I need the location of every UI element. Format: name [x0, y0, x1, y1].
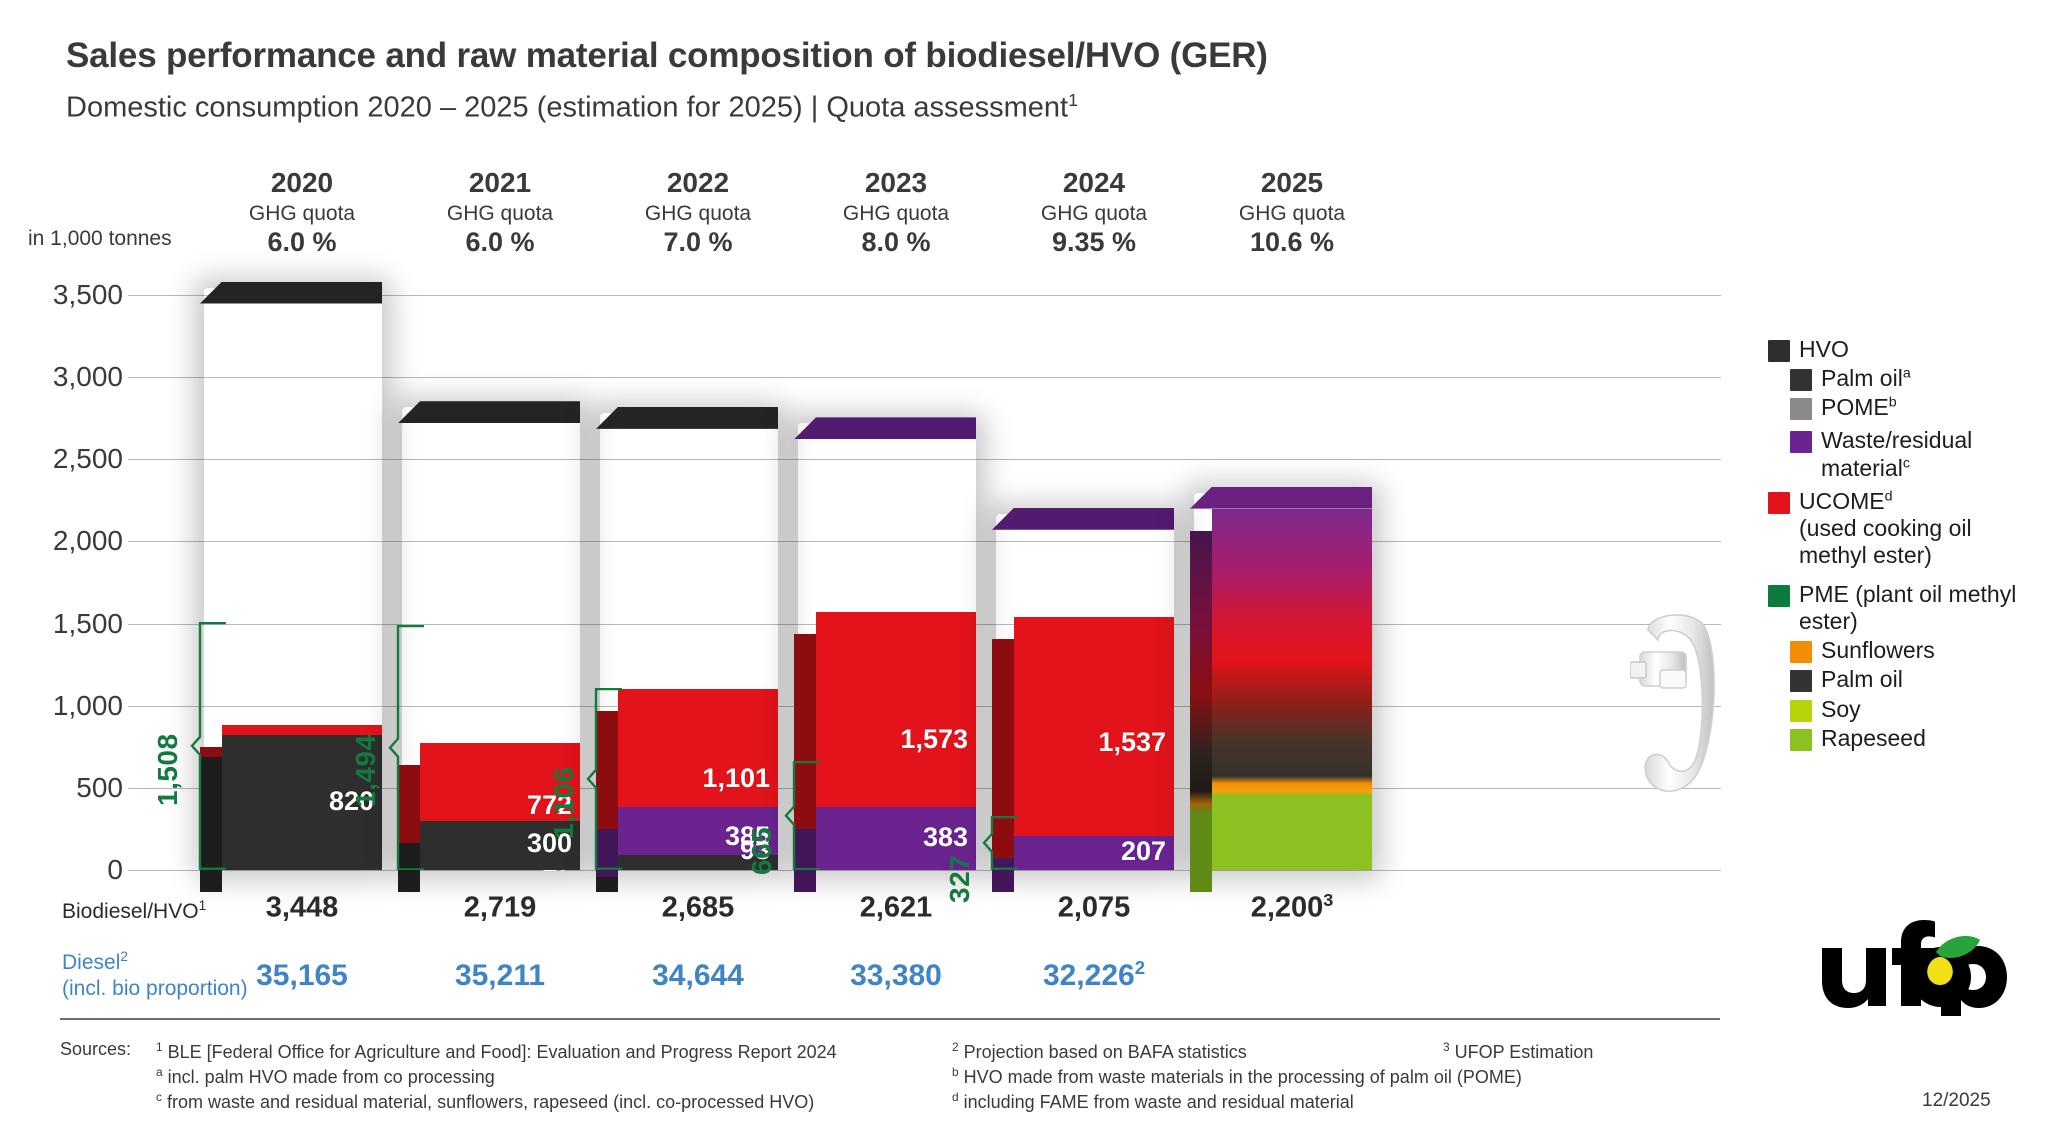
column-year: 2022: [598, 168, 798, 197]
legend-swatch-icon: [1790, 729, 1812, 751]
source-note: 1 BLE [Federal Office for Agriculture an…: [156, 1039, 837, 1066]
pme-brace: [186, 622, 226, 870]
chart-page: Sales performance and raw material compo…: [0, 0, 2048, 1148]
footer-divider: [60, 1018, 1720, 1020]
quota-value: 6.0 %: [400, 228, 600, 258]
biodiesel-total-value: 2,075: [994, 890, 1194, 925]
legend-item-waste-residual-material[interactable]: Waste/residual materialc: [1768, 427, 2033, 481]
bar-2024: 283441,537207: [1014, 530, 1174, 870]
legend-label: PME (plant oil methyl ester): [1799, 581, 2033, 635]
legend-swatch-icon: [1790, 641, 1812, 663]
y-axis-tick-label: 3,000: [53, 361, 123, 393]
source-note: 3 UFOP Estimation: [1443, 1039, 1593, 1066]
quota-value: 10.6 %: [1192, 228, 1392, 258]
source-note: a incl. palm HVO made from co processing: [156, 1064, 495, 1091]
pme-brace: [384, 625, 424, 870]
bar-top-face: [398, 401, 580, 423]
legend-item-ucome[interactable]: UCOMEd(used cooking oil methyl ester): [1768, 488, 2033, 569]
bar-2025-estimate: [1212, 509, 1372, 870]
y-axis-tick-label: 2,000: [53, 525, 123, 557]
column-header-2023: 2023GHG quota8.0 %: [796, 168, 996, 257]
diesel-total-value: 32,2262: [994, 957, 1194, 993]
legend-label: Waste/residual materialc: [1821, 427, 2033, 481]
source-note: b HVO made from waste materials in the p…: [952, 1064, 1522, 1091]
diesel-total-value: 34,644: [598, 957, 798, 993]
column-header-2024: 2024GHG quota9.35 %: [994, 168, 1194, 257]
biodiesel-total-value: 2,621: [796, 890, 996, 925]
diesel-total-value: 33,380: [796, 957, 996, 993]
fuel-nozzle-icon: [1630, 608, 1740, 838]
sources-label: Sources:: [60, 1039, 131, 1060]
ufop-logo: [1818, 916, 2018, 1016]
legend-label: POMEb: [1821, 394, 1897, 421]
legend-item-hvo[interactable]: HVO: [1768, 336, 2033, 363]
y-axis-tick-label: 0: [107, 854, 123, 886]
legend-swatch-icon: [1768, 585, 1790, 607]
quota-label: GHG quota: [598, 201, 798, 227]
biodiesel-total-value: 2,2003: [1192, 890, 1392, 925]
column-header-2025: 2025GHG quota10.6 %: [1192, 168, 1392, 257]
bar-top-face: [200, 282, 382, 304]
legend-swatch-icon: [1768, 492, 1790, 514]
bar-top-face: [596, 407, 778, 429]
biodiesel-total-value: 2,685: [598, 890, 798, 925]
pme-brace: [582, 688, 622, 870]
legend-item-rapeseed[interactable]: Rapeseed: [1768, 725, 2033, 752]
legend-item-soy[interactable]: Soy: [1768, 696, 2033, 723]
diesel-total-value: 35,165: [202, 957, 402, 993]
quota-value: 7.0 %: [598, 228, 798, 258]
legend-item-pme-plant-oil-methyl-ester[interactable]: PME (plant oil methyl ester): [1768, 581, 2033, 635]
legend-swatch-icon: [1790, 398, 1812, 420]
bar-top-face: [992, 508, 1174, 530]
bar-segment-value: 1,573: [900, 726, 968, 753]
pme-brace: [978, 816, 1018, 870]
y-axis-tick-label: 3,500: [53, 279, 123, 311]
legend-swatch-icon: [1790, 431, 1812, 453]
column-year: 2024: [994, 168, 1194, 197]
chart-legend: HVOPalm oilaPOMEbWaste/residual material…: [1768, 336, 2033, 754]
pme-brace: [780, 761, 820, 870]
bar-gradient-face: [1212, 509, 1372, 870]
legend-swatch-icon: [1790, 670, 1812, 692]
quota-value: 9.35 %: [994, 228, 1194, 258]
bar-segment-value: 207: [1121, 838, 1166, 865]
bar-segment-side: [1190, 531, 1212, 892]
y-axis-tick-label: 1,500: [53, 608, 123, 640]
pme-brace-value: 1,106: [548, 719, 580, 839]
legend-label: HVO: [1799, 336, 1849, 363]
legend-label: Sunflowers: [1821, 637, 1935, 664]
y-axis-tick-label: 2,500: [53, 443, 123, 475]
source-note: c from waste and residual material, sunf…: [156, 1089, 814, 1116]
biodiesel-row-label: Biodiesel/HVO1: [62, 898, 206, 924]
legend-label: Palm oil: [1821, 666, 1903, 693]
column-year: 2021: [400, 168, 600, 197]
diesel-total-value: 35,211: [400, 957, 600, 993]
column-header-2020: 2020GHG quota6.0 %: [202, 168, 402, 257]
source-note: d including FAME from waste and residual…: [952, 1089, 1354, 1116]
legend-item-palm-oil[interactable]: Palm oila: [1768, 365, 2033, 392]
column-year: 2020: [202, 168, 402, 197]
date-stamp: 12/2025: [1922, 1090, 1991, 1112]
legend-swatch-icon: [1768, 340, 1790, 362]
quota-label: GHG quota: [796, 201, 996, 227]
y-axis-tick-label: 1,000: [53, 690, 123, 722]
bar-top-face: [794, 417, 976, 439]
bar-top-face: [1190, 487, 1372, 509]
column-year: 2023: [796, 168, 996, 197]
biodiesel-total-value: 2,719: [400, 890, 600, 925]
pme-brace-value: 665: [746, 755, 778, 875]
legend-swatch-icon: [1790, 369, 1812, 391]
quota-value: 8.0 %: [796, 228, 996, 258]
quota-label: GHG quota: [994, 201, 1194, 227]
column-header-2021: 2021GHG quota6.0 %: [400, 168, 600, 257]
bar-segment-value: 1,537: [1098, 729, 1166, 756]
legend-item-sunflowers[interactable]: Sunflowers: [1768, 637, 2033, 664]
pme-brace-value: 1,508: [152, 686, 184, 806]
quota-label: GHG quota: [202, 201, 402, 227]
column-header-2022: 2022GHG quota7.0 %: [598, 168, 798, 257]
y-axis-tick-label: 500: [76, 772, 123, 804]
quota-label: GHG quota: [400, 201, 600, 227]
legend-label: Rapeseed: [1821, 725, 1926, 752]
legend-note: (used cooking oil methyl ester): [1799, 515, 2033, 569]
quota-value: 6.0 %: [202, 228, 402, 258]
legend-label: UCOMEd(used cooking oil methyl ester): [1799, 488, 2033, 569]
biodiesel-total-value: 3,448: [202, 890, 402, 925]
legend-label: Soy: [1821, 696, 1861, 723]
legend-swatch-icon: [1790, 700, 1812, 722]
column-year: 2025: [1192, 168, 1392, 197]
pme-brace-value: 1,494: [350, 687, 382, 807]
legend-item-pome[interactable]: POMEb: [1768, 394, 2033, 421]
legend-label: Palm oila: [1821, 365, 1911, 392]
quota-label: GHG quota: [1192, 201, 1392, 227]
source-note: 2 Projection based on BAFA statistics: [952, 1039, 1247, 1066]
legend-item-palm-oil[interactable]: Palm oil: [1768, 666, 2033, 693]
pme-brace-value: 327: [944, 783, 976, 903]
